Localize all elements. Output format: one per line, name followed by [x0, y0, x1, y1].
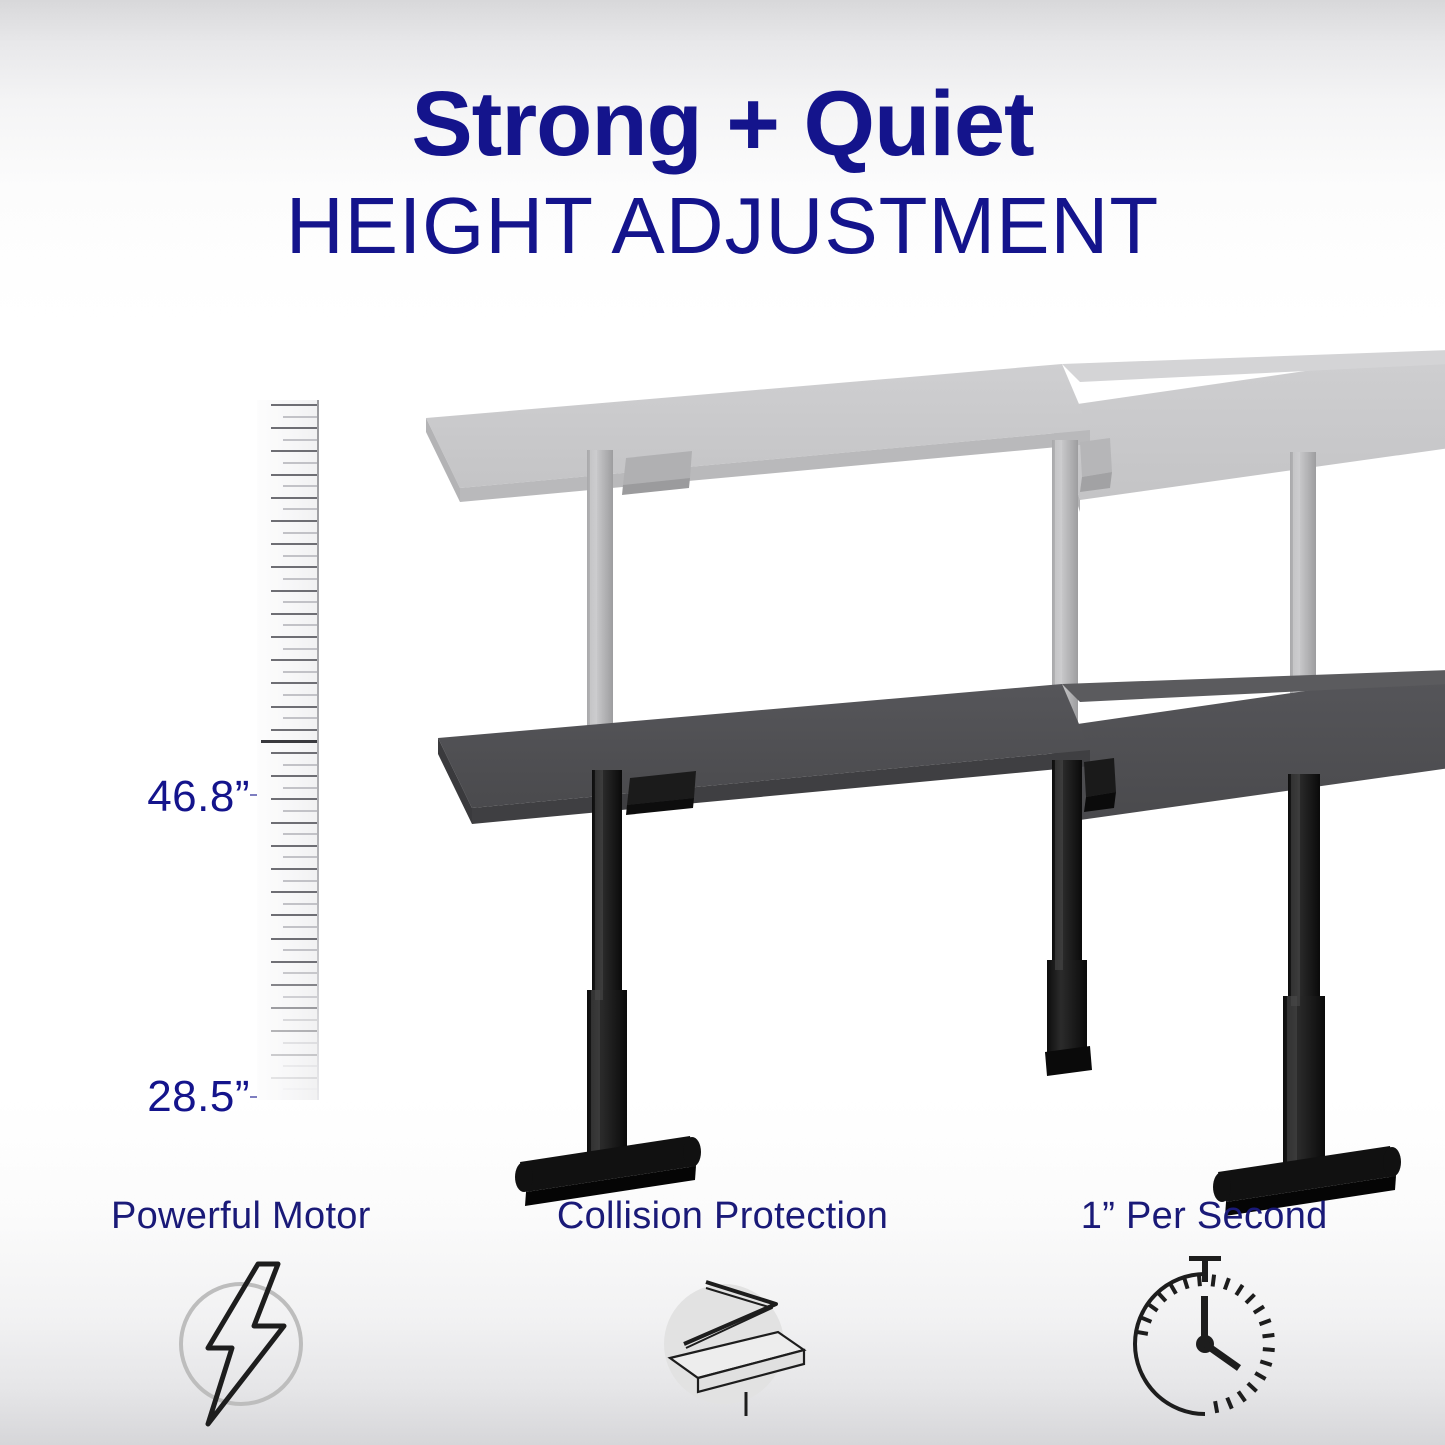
- clock-tick: [1246, 1295, 1255, 1304]
- ruler-tick: [271, 984, 317, 986]
- ruler-tick: [283, 462, 317, 464]
- clock-tick: [1254, 1306, 1264, 1312]
- height-scale-group: 46.8” 28.5”: [120, 380, 340, 1100]
- ruler-tick: [283, 810, 317, 812]
- page-subtitle: HEIGHT ADJUSTMENT: [0, 186, 1445, 266]
- ruler-tick: [271, 775, 317, 777]
- clock-tick: [1263, 1335, 1275, 1337]
- ruler-tick: [283, 416, 317, 418]
- ruler-tick: [271, 427, 317, 429]
- ruler-tick: [283, 833, 317, 835]
- ruler-tick: [271, 543, 317, 545]
- feature-label-speed: 1” Per Second: [1081, 1195, 1328, 1238]
- ruler-tick: [271, 682, 317, 684]
- ruler-tick: [283, 996, 317, 998]
- ruler-tick: [271, 1054, 317, 1056]
- feature-collision-protection: Collision Protection: [482, 1195, 964, 1445]
- page-title: Strong + Quiet: [0, 78, 1445, 170]
- clock-tick: [1215, 1401, 1217, 1413]
- ruler-tick: [283, 601, 317, 603]
- ruler-tick: [271, 729, 317, 731]
- clock-tick: [1136, 1332, 1148, 1334]
- clock-tick: [1225, 1278, 1229, 1289]
- ruler-tick: [271, 404, 317, 406]
- ruler-tick: [271, 822, 317, 824]
- clock-icon: [1109, 1252, 1299, 1432]
- ruler-tick: [283, 1019, 317, 1021]
- ruler-tick: [271, 474, 317, 476]
- ruler-tick: [283, 1042, 317, 1044]
- ruler-tick: [283, 856, 317, 858]
- clock-tick: [1148, 1304, 1158, 1311]
- ruler-tick: [283, 949, 317, 951]
- clock-tick: [1140, 1317, 1151, 1322]
- ruler-tick: [283, 1065, 317, 1067]
- clock-tick: [1236, 1285, 1242, 1295]
- clock-tick: [1199, 1274, 1200, 1286]
- clock-tick: [1213, 1275, 1215, 1287]
- ruler-tick: [261, 740, 319, 743]
- ruler-tick: [283, 439, 317, 441]
- ruler-tick: [283, 717, 317, 719]
- ruler-tick: [271, 961, 317, 963]
- clock-tick: [1260, 1320, 1271, 1324]
- ruler-tick: [271, 1030, 317, 1032]
- ruler-tick: [283, 1088, 317, 1090]
- ruler-tick: [271, 752, 317, 754]
- ruler-tick: [271, 450, 317, 452]
- clock-tick: [1248, 1383, 1257, 1391]
- feature-row: Powerful Motor Collision Protection: [0, 1195, 1445, 1445]
- clock-tick: [1227, 1398, 1232, 1409]
- ruler-tick: [283, 624, 317, 626]
- ruler-tick: [271, 1007, 317, 1009]
- max-height-label: 46.8”: [120, 772, 250, 822]
- ruler-tick: [283, 926, 317, 928]
- ruler-tick: [271, 497, 317, 499]
- ruler-tick: [271, 914, 317, 916]
- clock-tick: [1260, 1361, 1272, 1365]
- ruler-tick: [271, 938, 317, 940]
- ruler-tick: [283, 532, 317, 534]
- clock-tick: [1238, 1392, 1245, 1402]
- clock-tick: [1170, 1283, 1176, 1293]
- ruler-tick: [283, 787, 317, 789]
- ruler-tick: [271, 706, 317, 708]
- lightning-bolt-icon: [146, 1252, 336, 1432]
- standing-desk-illustration: [390, 330, 1445, 1220]
- clock-tick: [1263, 1349, 1275, 1350]
- clock-tick: [1184, 1277, 1188, 1289]
- ruler-tick: [271, 590, 317, 592]
- ruler-tick: [271, 798, 317, 800]
- ruler-tick: [283, 578, 317, 580]
- feature-speed: 1” Per Second: [963, 1195, 1445, 1445]
- infographic-canvas: Strong + Quiet HEIGHT ADJUSTMENT 46.8” 2…: [0, 0, 1445, 1445]
- ruler-tick: [283, 880, 317, 882]
- ruler-tick: [271, 636, 317, 638]
- min-height-label: 28.5”: [120, 1072, 250, 1122]
- clock-tick: [1255, 1373, 1265, 1379]
- ruler-tick: [283, 694, 317, 696]
- ruler-tick: [283, 555, 317, 557]
- ruler-tick: [271, 520, 317, 522]
- clock-tick: [1158, 1292, 1166, 1301]
- feature-label-collision-protection: Collision Protection: [557, 1195, 888, 1238]
- ruler-tick: [283, 508, 317, 510]
- feature-powerful-motor: Powerful Motor: [0, 1195, 482, 1445]
- ruler-tick: [271, 868, 317, 870]
- ruler-tick: [271, 891, 317, 893]
- ruler-tick: [283, 972, 317, 974]
- lowered-desk: [438, 670, 1445, 1216]
- ruler-tick: [283, 903, 317, 905]
- ruler-tick: [283, 671, 317, 673]
- ruler-tick: [283, 764, 317, 766]
- ruler-tick: [271, 566, 317, 568]
- ruler-icon: [257, 400, 319, 1100]
- ruler-tick: [271, 845, 317, 847]
- desktop-collision-icon: [628, 1252, 818, 1432]
- ruler-tick: [271, 659, 317, 661]
- ruler-tick: [271, 1077, 317, 1079]
- feature-label-powerful-motor: Powerful Motor: [111, 1195, 371, 1238]
- ruler-tick: [271, 613, 317, 615]
- ruler-tick: [283, 485, 317, 487]
- ruler-tick: [283, 648, 317, 650]
